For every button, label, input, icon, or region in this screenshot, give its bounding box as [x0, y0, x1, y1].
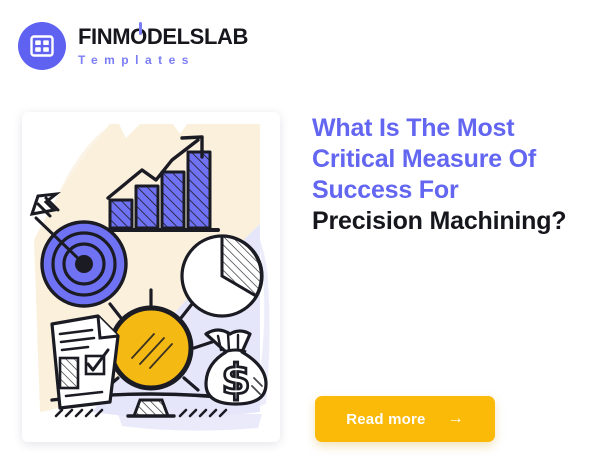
promo-card: FINMODELSLAB Templates: [0, 0, 600, 464]
headline-emphasis: Precision Machining?: [312, 206, 580, 237]
document-checklist-icon: [52, 316, 118, 408]
svg-text:$: $: [221, 355, 250, 404]
brand-name: FINMODELSLAB: [78, 26, 248, 48]
illustration-panel: $: [22, 112, 280, 442]
brand-name-label: FINMODELSLAB: [78, 24, 248, 49]
brand-o-accent-icon: [139, 22, 142, 35]
arrow-right-icon: →: [448, 411, 464, 427]
idea-coin-icon: [111, 308, 191, 388]
headline-highlight: What Is The Most Critical Measure Of Suc…: [312, 113, 580, 206]
brand-subtitle: Templates: [78, 54, 248, 66]
brand-text: FINMODELSLAB Templates: [78, 26, 248, 66]
brand-logo[interactable]: FINMODELSLAB Templates: [18, 22, 248, 70]
pie-chart-icon: [182, 236, 262, 316]
read-more-button[interactable]: Read more →: [315, 396, 495, 442]
grid-squares-icon: [18, 22, 66, 70]
page-title: What Is The Most Critical Measure Of Suc…: [312, 113, 580, 237]
read-more-label: Read more: [346, 411, 425, 428]
